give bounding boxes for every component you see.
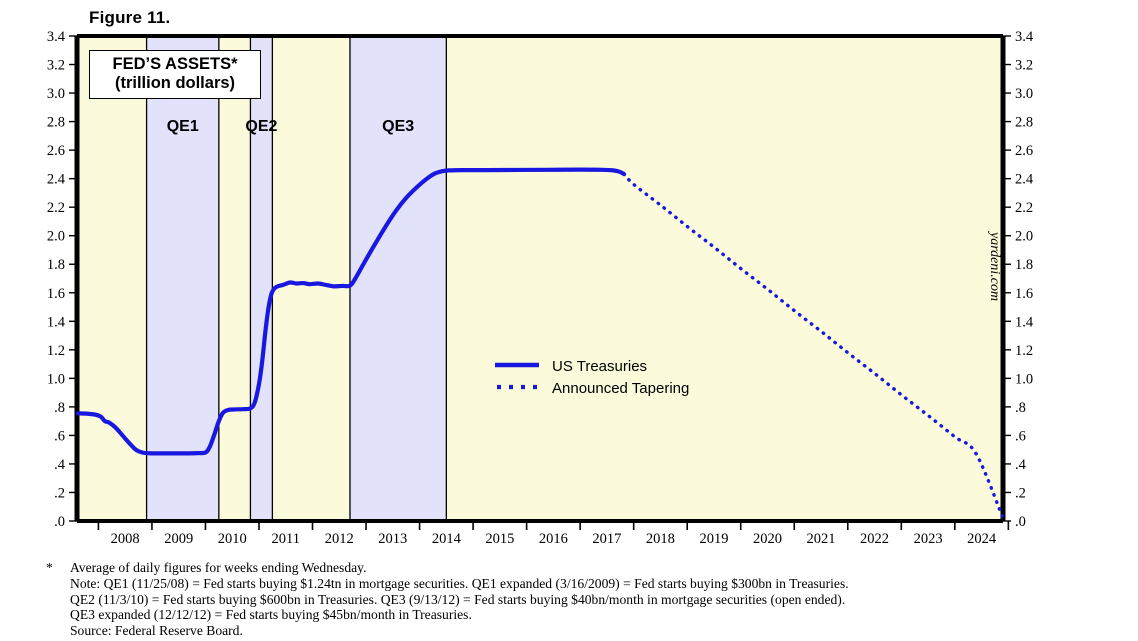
qe-band-label-qe1: QE1 [167, 118, 199, 135]
footnote-line: Source: Federal Reserve Board. [70, 623, 1126, 639]
footnote-line: Note: QE1 (11/25/08) = Fed starts buying… [70, 576, 1126, 592]
y-axis-label-left: 3.0 [47, 86, 65, 102]
footnote-line: QE3 expanded (12/12/12) = Fed starts buy… [70, 607, 1126, 623]
x-axis-label: 2012 [325, 531, 354, 547]
y-axis-label-left: .0 [54, 514, 65, 530]
y-axis-label-left: 3.4 [47, 29, 66, 45]
y-axis-label-right: 2.2 [1015, 200, 1033, 216]
x-axis-label: 2022 [860, 531, 889, 547]
y-axis-label-left: 1.2 [47, 343, 65, 359]
x-axis-label: 2024 [967, 531, 997, 547]
footnote-lines: Average of daily figures for weeks endin… [70, 560, 1126, 639]
x-axis-label: 2014 [432, 531, 462, 547]
y-axis-label-left: 1.8 [47, 257, 65, 273]
x-axis-label: 2018 [646, 531, 675, 547]
x-axis-label: 2010 [218, 531, 247, 547]
x-axis-label: 2016 [539, 531, 568, 547]
y-axis-label-right: 3.4 [1015, 29, 1034, 45]
qe-band-qe3 [350, 36, 446, 521]
x-axis-label: 2020 [753, 531, 782, 547]
y-axis-label-right: 2.4 [1015, 172, 1034, 188]
y-axis-label-left: 1.4 [47, 314, 66, 330]
qe-band-qe2 [250, 36, 272, 521]
y-axis-label-left: 1.0 [47, 371, 65, 387]
chart-title-line2: (trillion dollars) [96, 74, 254, 93]
x-axis-label: 2019 [699, 531, 728, 547]
y-axis-label-right: 2.6 [1015, 143, 1033, 159]
x-axis-label: 2009 [164, 531, 193, 547]
qe-band-label-qe3: QE3 [382, 118, 414, 135]
footnotes: * Average of daily figures for weeks end… [46, 560, 1126, 639]
y-axis-label-left: .6 [54, 428, 65, 444]
y-axis-label-left: 1.6 [47, 286, 65, 302]
x-axis-label: 2011 [272, 531, 300, 547]
x-axis-label: 2015 [485, 531, 514, 547]
chart-title-line1: FED’S ASSETS* [96, 55, 254, 74]
y-axis-label-right: .8 [1015, 400, 1026, 416]
y-axis-label-right: 2.0 [1015, 229, 1033, 245]
footnote-star: * [46, 560, 70, 639]
watermark-yardeni: yardeni.com [987, 230, 1002, 301]
y-axis-label-right: 3.2 [1015, 58, 1033, 74]
y-axis-label-right: 3.0 [1015, 86, 1033, 102]
y-axis-label-left: .8 [54, 400, 65, 416]
y-axis-label-right: 1.6 [1015, 286, 1033, 302]
chart-title-box: FED’S ASSETS* (trillion dollars) [89, 50, 261, 99]
y-axis-label-left: .2 [54, 485, 65, 501]
y-axis-label-right: .2 [1015, 485, 1026, 501]
y-axis-label-right: 1.0 [1015, 371, 1033, 387]
y-axis-label-right: .4 [1015, 457, 1027, 473]
y-axis-label-left: 2.0 [47, 229, 65, 245]
legend-label-us-treasuries: US Treasuries [552, 358, 647, 375]
chart-container: QE1QE2QE33.43.43.23.23.03.02.82.82.62.62… [0, 0, 1138, 641]
y-axis-label-right: .6 [1015, 428, 1026, 444]
y-axis-label-left: .4 [54, 457, 66, 473]
legend-label-announced-tapering: Announced Tapering [552, 380, 689, 397]
y-axis-label-right: 2.8 [1015, 115, 1033, 131]
x-axis-label: 2023 [914, 531, 943, 547]
footnote-line: QE2 (11/3/10) = Fed starts buying $600bn… [70, 592, 1126, 608]
qe-band-label-qe2: QE2 [245, 118, 277, 135]
y-axis-label-right: .0 [1015, 514, 1026, 530]
y-axis-label-left: 2.6 [47, 143, 65, 159]
y-axis-label-right: 1.8 [1015, 257, 1033, 273]
y-axis-label-left: 3.2 [47, 58, 65, 74]
y-axis-label-left: 2.4 [47, 172, 66, 188]
y-axis-label-right: 1.4 [1015, 314, 1034, 330]
x-axis-label: 2008 [111, 531, 140, 547]
y-axis-label-left: 2.8 [47, 115, 65, 131]
x-axis-label: 2013 [378, 531, 407, 547]
y-axis-label-right: 1.2 [1015, 343, 1033, 359]
x-axis-label: 2017 [592, 531, 621, 547]
footnote-line: Average of daily figures for weeks endin… [70, 560, 1126, 576]
x-axis-label: 2021 [807, 531, 836, 547]
y-axis-label-left: 2.2 [47, 200, 65, 216]
